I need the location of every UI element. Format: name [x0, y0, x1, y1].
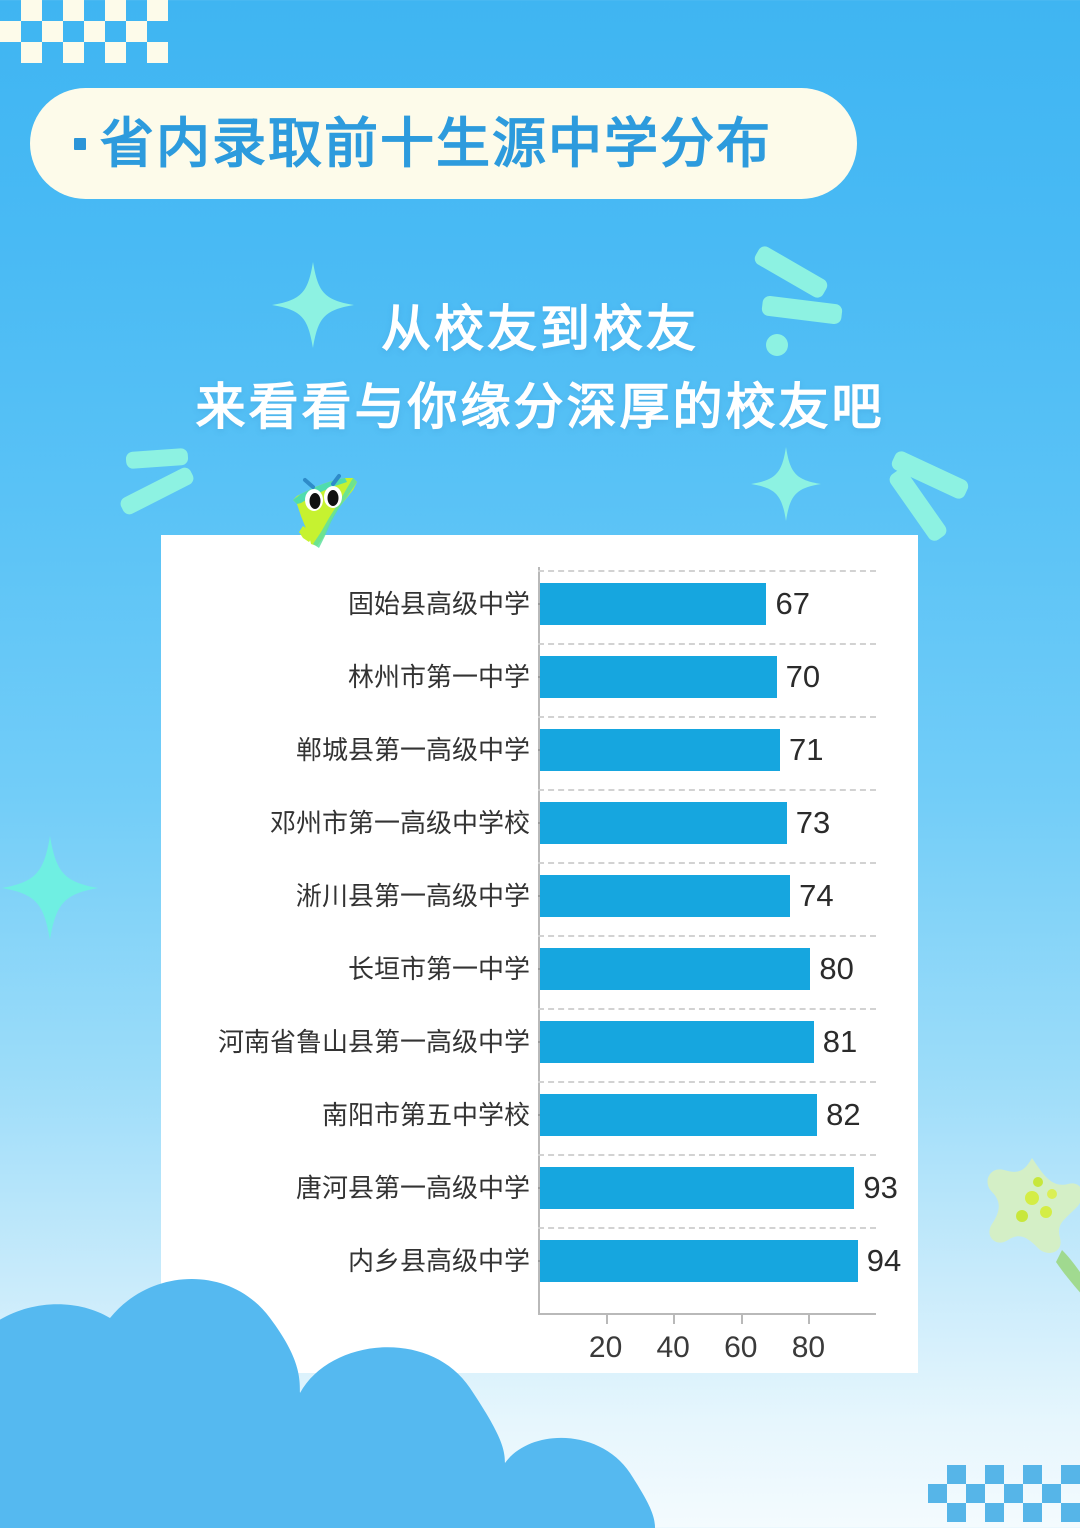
checker-cell	[126, 21, 147, 42]
chart-bar	[540, 656, 777, 698]
chart-bar	[540, 583, 766, 625]
chart-bar	[540, 1167, 854, 1209]
chart-value-label: 81	[823, 1026, 857, 1057]
chart-bar-row: 邓州市第一高级中学校73	[161, 786, 918, 859]
chart-category-label: 淅川县第一高级中学	[161, 883, 538, 909]
chart-category-label: 郸城县第一高级中学	[161, 737, 538, 763]
chart-bar-row: 林州市第一中学70	[161, 640, 918, 713]
checker-cell	[1061, 1503, 1080, 1522]
checker-cell	[21, 42, 42, 63]
checker-cell	[105, 0, 126, 21]
chart-bar-row: 长垣市第一中学80	[161, 932, 918, 1005]
chart-value-label: 70	[786, 661, 820, 692]
checker-pattern-bottom-right	[928, 1465, 1080, 1522]
chart-category-label: 长垣市第一中学	[161, 956, 538, 982]
chart-bar	[540, 802, 787, 844]
page-title: 省内录取前十生源中学分布	[100, 117, 772, 171]
checker-cell	[84, 21, 105, 42]
dash-decoration	[752, 244, 830, 300]
chart-category-label: 河南省鲁山县第一高级中学	[161, 1029, 538, 1055]
checker-cell	[63, 0, 84, 21]
subtitle-line-2: 来看看与你缘分深厚的校友吧	[0, 382, 1080, 432]
checker-pattern-top-left	[0, 0, 168, 63]
checker-cell	[21, 0, 42, 21]
chart-value-label: 93	[863, 1172, 897, 1203]
chart-category-label: 固始县高级中学	[161, 591, 538, 617]
checker-cell	[1042, 1484, 1061, 1503]
chart-bar-row: 固始县高级中学67	[161, 567, 918, 640]
chart-value-label: 80	[819, 953, 853, 984]
checker-cell	[1023, 1503, 1042, 1522]
cloud-decoration	[0, 1248, 1080, 1528]
chart-bar-row: 南阳市第五中学校82	[161, 1078, 918, 1151]
checker-cell	[1023, 1465, 1042, 1484]
pixel-cursor-mascot-icon	[283, 470, 393, 555]
checker-cell	[985, 1503, 1004, 1522]
checker-cell	[42, 21, 63, 42]
checker-cell	[1061, 1465, 1080, 1484]
checker-cell	[966, 1484, 985, 1503]
chart-category-label: 林州市第一中学	[161, 664, 538, 690]
checker-cell	[0, 21, 21, 42]
chart-value-label: 82	[826, 1099, 860, 1130]
chart-bar-row: 唐河县第一高级中学93	[161, 1151, 918, 1224]
checker-cell	[947, 1503, 966, 1522]
chart-bar	[540, 875, 790, 917]
chart-bar	[540, 729, 780, 771]
banner-bullet-icon	[74, 138, 86, 150]
chart-value-label: 74	[799, 880, 833, 911]
dot-decoration	[766, 334, 788, 356]
checker-cell	[63, 42, 84, 63]
chart-bar	[540, 1021, 814, 1063]
chart-category-label: 邓州市第一高级中学校	[161, 810, 538, 836]
sparkle-star-icon	[751, 447, 821, 521]
chart-value-label: 71	[789, 734, 823, 765]
sparkle-star-icon	[272, 262, 354, 348]
chart-bar	[540, 1094, 817, 1136]
chart-value-label: 73	[796, 807, 830, 838]
chart-bar	[540, 948, 810, 990]
sparkle-star-icon	[2, 836, 98, 940]
chart-value-label: 67	[775, 588, 809, 619]
chart-bar-row: 河南省鲁山县第一高级中学81	[161, 1005, 918, 1078]
checker-cell	[147, 0, 168, 21]
checker-cell	[928, 1484, 947, 1503]
title-banner: 省内录取前十生源中学分布	[30, 88, 857, 199]
checker-cell	[985, 1465, 1004, 1484]
chart-bar-row: 郸城县第一高级中学71	[161, 713, 918, 786]
checker-cell	[147, 42, 168, 63]
checker-cell	[947, 1465, 966, 1484]
dash-decoration	[118, 465, 196, 516]
subtitle-line-1: 从校友到校友	[0, 304, 1080, 354]
checker-cell	[1004, 1484, 1023, 1503]
chart-category-label: 南阳市第五中学校	[161, 1102, 538, 1128]
chart-category-label: 唐河县第一高级中学	[161, 1175, 538, 1201]
dash-decoration	[125, 448, 188, 469]
checker-cell	[105, 42, 126, 63]
chart-bar-row: 淅川县第一高级中学74	[161, 859, 918, 932]
